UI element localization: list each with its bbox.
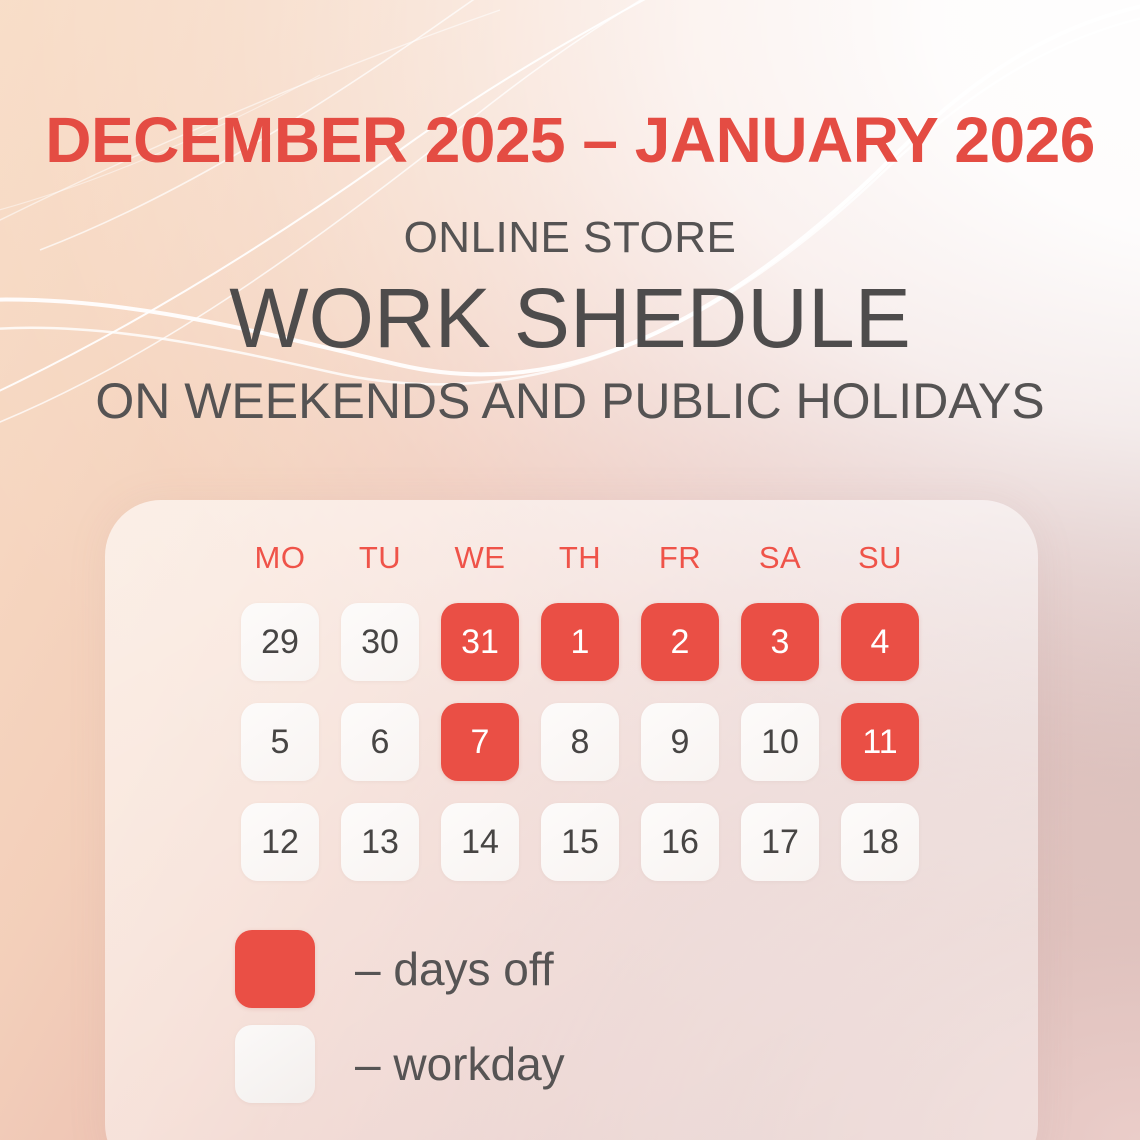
day-cell-wrapper: 10 — [730, 703, 830, 781]
heading-block: DECEMBER 2025 – JANUARY 2026 ONLINE STOR… — [0, 0, 1140, 426]
poster-canvas: DECEMBER 2025 – JANUARY 2026 ONLINE STOR… — [0, 0, 1140, 1140]
day-cell-wrapper: 15 — [530, 803, 630, 881]
week-row: 29 30 31 1 2 3 4 — [230, 603, 1025, 681]
day-cell[interactable]: 1 — [541, 603, 619, 681]
day-cell-wrapper: 3 — [730, 603, 830, 681]
day-cell[interactable]: 2 — [641, 603, 719, 681]
day-cell-wrapper: 7 — [430, 703, 530, 781]
day-cell[interactable]: 30 — [341, 603, 419, 681]
day-cell-wrapper: 18 — [830, 803, 930, 881]
day-cell-wrapper: 1 — [530, 603, 630, 681]
day-cell[interactable]: 17 — [741, 803, 819, 881]
day-cell[interactable]: 5 — [241, 703, 319, 781]
weekday-label-tu: TU — [330, 542, 430, 573]
day-cell[interactable]: 9 — [641, 703, 719, 781]
weekday-label-mo: MO — [230, 542, 330, 573]
weekday-label-th: TH — [530, 542, 630, 573]
weekday-label-sa: SA — [730, 542, 830, 573]
page-title: WORK SHEDULE — [0, 274, 1140, 362]
day-cell-wrapper: 14 — [430, 803, 530, 881]
day-cell-wrapper: 9 — [630, 703, 730, 781]
legend-label-workday: – workday — [355, 1041, 565, 1087]
day-cell[interactable]: 16 — [641, 803, 719, 881]
day-cell-wrapper: 12 — [230, 803, 330, 881]
day-cell-wrapper: 30 — [330, 603, 430, 681]
weekday-label-fr: FR — [630, 542, 730, 573]
day-cell-wrapper: 29 — [230, 603, 330, 681]
day-cell[interactable]: 10 — [741, 703, 819, 781]
day-cell[interactable]: 3 — [741, 603, 819, 681]
day-cell[interactable]: 15 — [541, 803, 619, 881]
legend-swatch-workday — [235, 1025, 315, 1103]
day-cell-wrapper: 31 — [430, 603, 530, 681]
week-row: 5 6 7 8 9 10 11 — [230, 703, 1025, 781]
day-cell-wrapper: 16 — [630, 803, 730, 881]
period-title: DECEMBER 2025 – JANUARY 2026 — [0, 108, 1140, 172]
day-cell[interactable]: 7 — [441, 703, 519, 781]
week-row: 12 13 14 15 16 17 18 — [230, 803, 1025, 881]
calendar-grid: MO TU WE TH FR SA SU 29 30 31 1 2 3 4 5 … — [230, 542, 1025, 881]
weekday-header-row: MO TU WE TH FR SA SU — [230, 542, 1025, 573]
legend-label-days-off: – days off — [355, 946, 554, 992]
day-cell[interactable]: 13 — [341, 803, 419, 881]
day-cell-wrapper: 4 — [830, 603, 930, 681]
legend: – days off – workday — [235, 930, 565, 1120]
eyebrow-text: ONLINE STORE — [0, 216, 1140, 260]
day-cell[interactable]: 31 — [441, 603, 519, 681]
day-cell-wrapper: 2 — [630, 603, 730, 681]
day-cell-wrapper: 17 — [730, 803, 830, 881]
day-cell-wrapper: 8 — [530, 703, 630, 781]
day-cell[interactable]: 11 — [841, 703, 919, 781]
day-cell-wrapper: 6 — [330, 703, 430, 781]
day-cell-wrapper: 11 — [830, 703, 930, 781]
day-cell[interactable]: 4 — [841, 603, 919, 681]
day-cell-wrapper: 5 — [230, 703, 330, 781]
day-cell[interactable]: 8 — [541, 703, 619, 781]
weekday-label-we: WE — [430, 542, 530, 573]
weekday-label-su: SU — [830, 542, 930, 573]
legend-item-workday: – workday — [235, 1025, 565, 1103]
subtitle-text: ON WEEKENDS AND PUBLIC HOLIDAYS — [0, 376, 1140, 426]
day-cell-wrapper: 13 — [330, 803, 430, 881]
day-cell[interactable]: 6 — [341, 703, 419, 781]
legend-item-days-off: – days off — [235, 930, 565, 1008]
day-cell[interactable]: 12 — [241, 803, 319, 881]
day-cell[interactable]: 14 — [441, 803, 519, 881]
day-cell[interactable]: 18 — [841, 803, 919, 881]
day-cell[interactable]: 29 — [241, 603, 319, 681]
legend-swatch-days-off — [235, 930, 315, 1008]
